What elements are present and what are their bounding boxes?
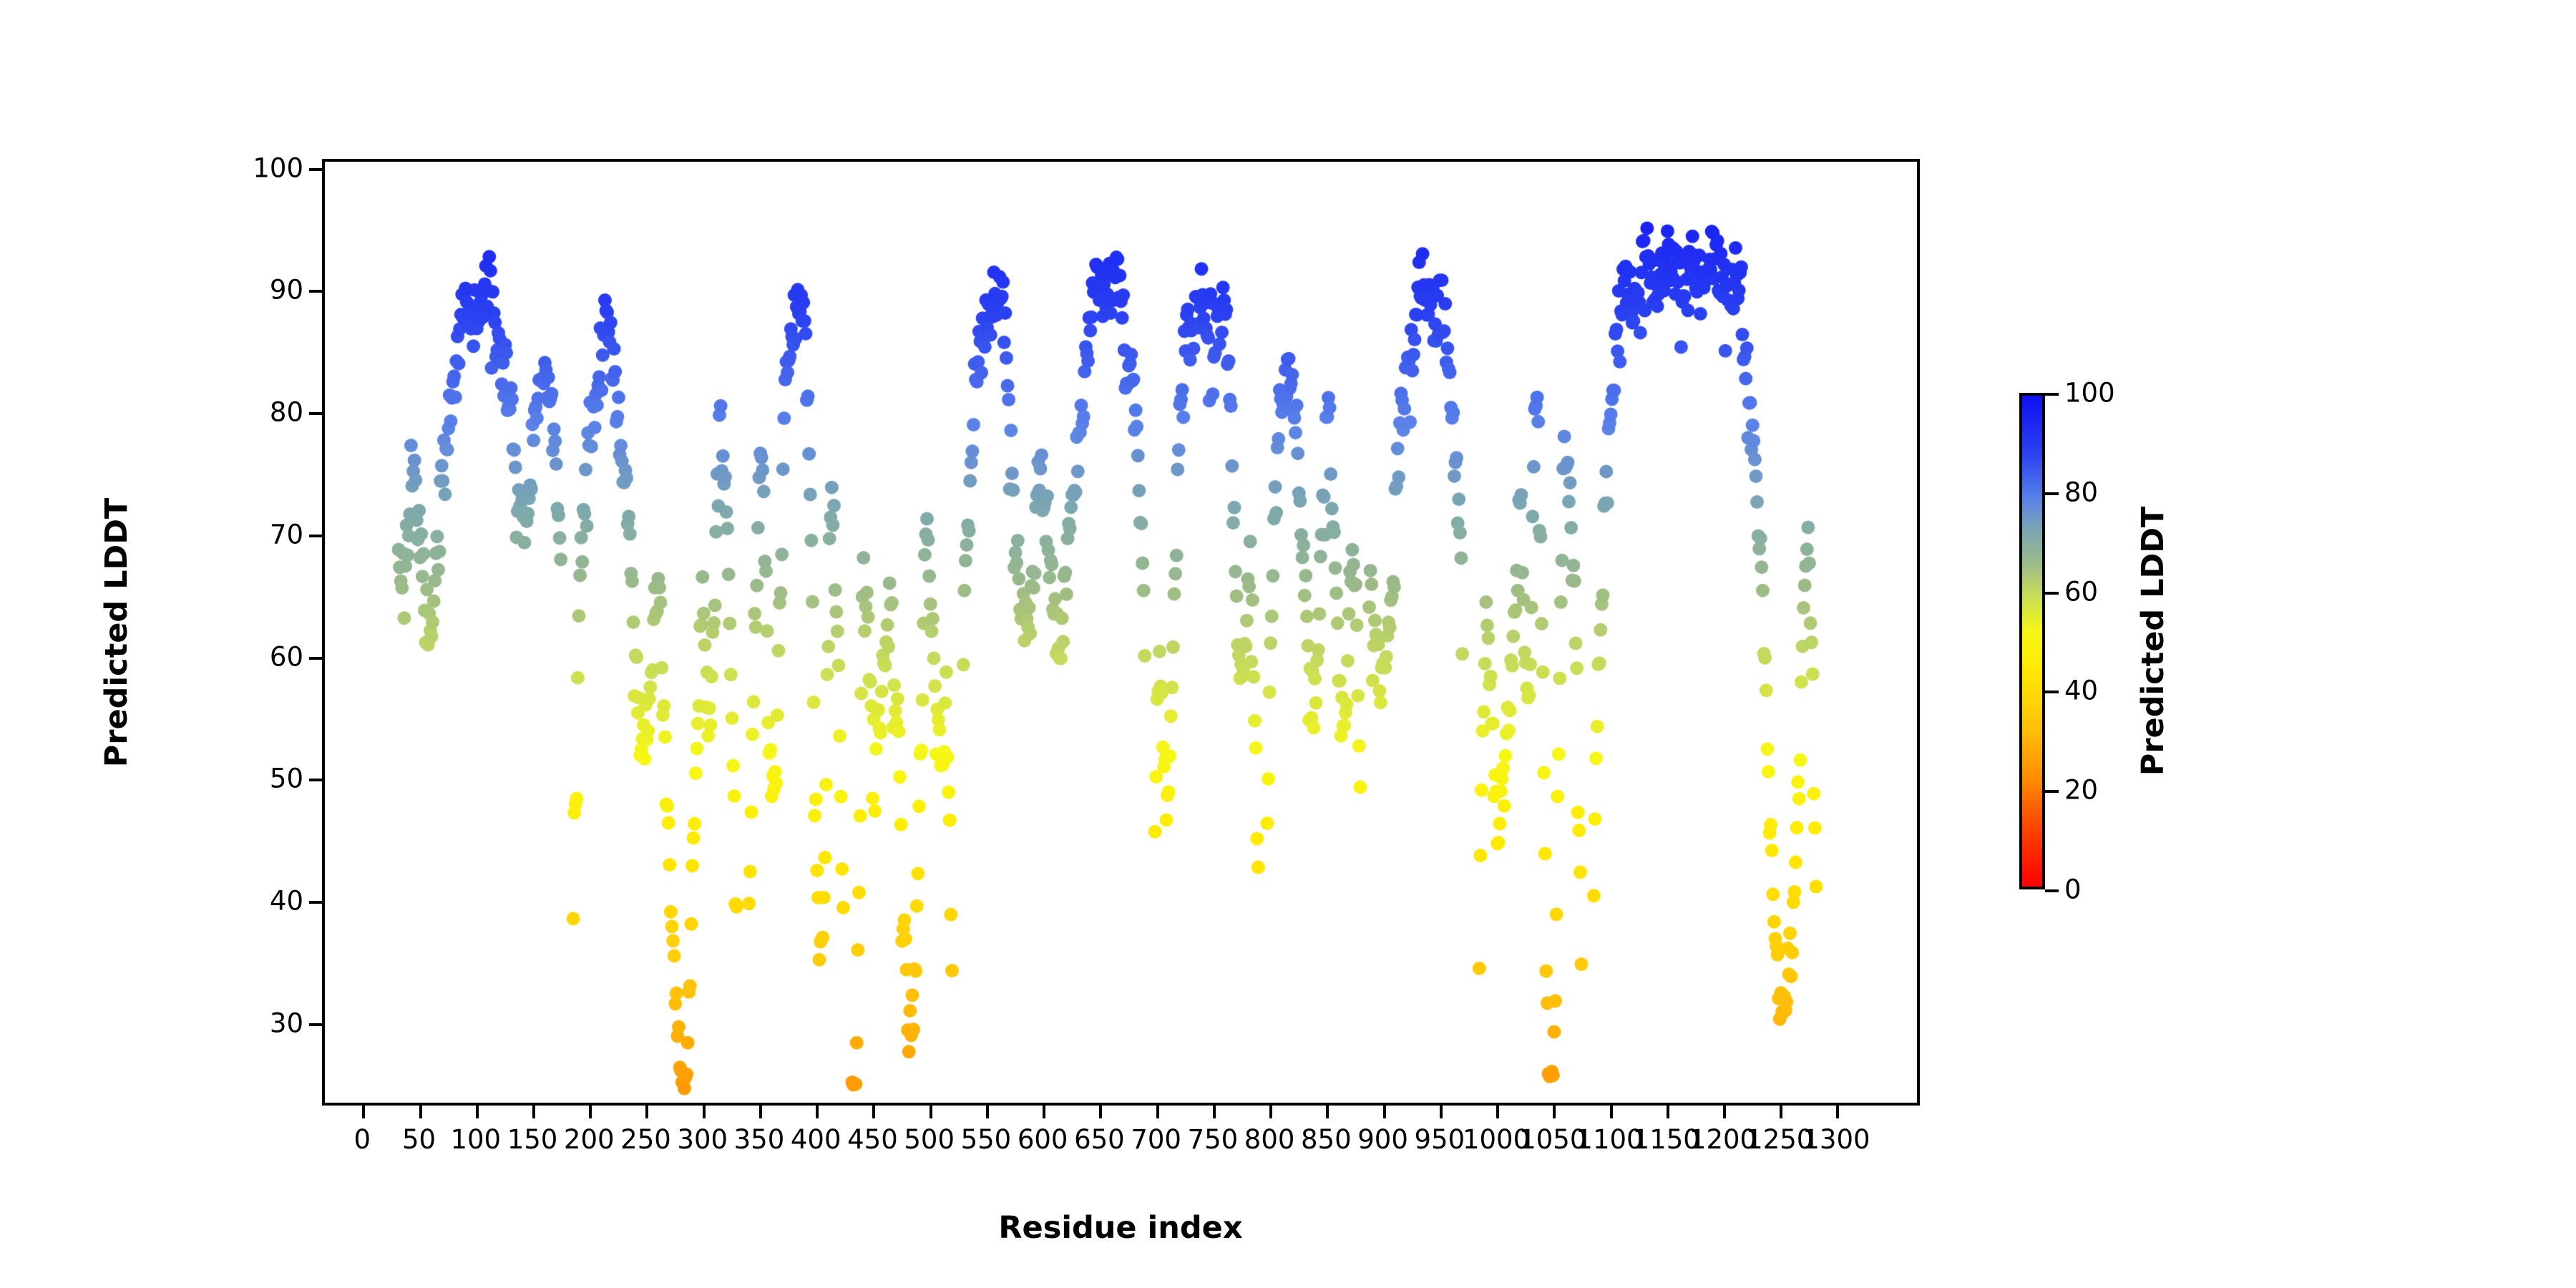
colorbar-tick [2045, 790, 2059, 793]
y-axis-title: Predicted LDDT [99, 498, 135, 767]
x-tick-label: 650 [1074, 1124, 1125, 1155]
colorbar-tick [2045, 691, 2059, 693]
x-tick-label: 550 [961, 1124, 1012, 1155]
x-tick-label: 1300 [1802, 1124, 1870, 1155]
y-tick-label: 90 [270, 275, 303, 306]
colorbar-tick-label: 0 [2064, 874, 2082, 905]
x-tick [1383, 1103, 1386, 1118]
x-tick [1269, 1103, 1272, 1118]
x-tick [589, 1103, 592, 1118]
y-tick-label: 70 [270, 519, 303, 550]
x-tick-label: 50 [402, 1124, 436, 1155]
x-tick-label: 500 [904, 1124, 955, 1155]
x-tick [532, 1103, 535, 1118]
scatter-plot-axes: 30405060708090100 0501001502002503003504… [322, 159, 1920, 1106]
colorbar-tick [2045, 592, 2059, 595]
y-tick [309, 290, 325, 293]
x-tick-label: 850 [1301, 1124, 1352, 1155]
x-tick-label: 400 [791, 1124, 841, 1155]
y-tick [309, 779, 325, 781]
colorbar-tick [2045, 889, 2059, 892]
x-tick-label: 750 [1188, 1124, 1239, 1155]
x-tick-label: 900 [1357, 1124, 1408, 1155]
colorbar-tick-label: 20 [2064, 775, 2098, 806]
x-tick [1610, 1103, 1613, 1118]
y-tick-label: 60 [270, 641, 303, 672]
x-tick [1667, 1103, 1669, 1118]
y-tick-label: 80 [270, 397, 303, 428]
x-tick [930, 1103, 932, 1118]
x-tick-label: 600 [1018, 1124, 1068, 1155]
x-tick-label: 200 [564, 1124, 615, 1155]
x-tick [476, 1103, 479, 1118]
y-tick [309, 657, 325, 660]
x-tick-label: 450 [847, 1124, 898, 1155]
x-tick [1213, 1103, 1216, 1118]
x-tick [986, 1103, 989, 1118]
x-axis-title: Residue index [998, 1210, 1242, 1246]
y-tick [309, 412, 325, 415]
x-tick [759, 1103, 762, 1118]
x-tick-label: 350 [734, 1124, 785, 1155]
x-tick [1780, 1103, 1782, 1118]
x-tick-label: 150 [507, 1124, 558, 1155]
x-tick [1496, 1103, 1499, 1118]
x-tick [1836, 1103, 1839, 1118]
y-tick [309, 1023, 325, 1026]
colorbar: 020406080100 [2019, 393, 2045, 889]
y-tick-label: 40 [270, 886, 303, 917]
x-tick [872, 1103, 875, 1118]
x-tick [1043, 1103, 1045, 1118]
colorbar-title: Predicted LDDT [2135, 507, 2171, 776]
x-tick-label: 700 [1131, 1124, 1181, 1155]
x-tick [816, 1103, 819, 1118]
y-tick-label: 100 [253, 152, 303, 183]
x-tick [703, 1103, 706, 1118]
colorbar-tick-label: 40 [2064, 675, 2098, 706]
colorbar-tick [2045, 492, 2059, 495]
colorbar-tick-label: 100 [2064, 378, 2115, 409]
figure-canvas: 30405060708090100 0501001502002503003504… [0, 0, 2576, 1288]
x-tick [1326, 1103, 1329, 1118]
x-tick-label: 0 [354, 1124, 371, 1155]
x-tick [1099, 1103, 1102, 1118]
y-tick [309, 168, 325, 171]
x-tick [362, 1103, 365, 1118]
x-tick [1156, 1103, 1159, 1118]
y-tick-label: 30 [270, 1008, 303, 1038]
colorbar-gradient-bar [2019, 393, 2045, 889]
x-tick [1440, 1103, 1443, 1118]
x-tick [645, 1103, 648, 1118]
x-tick-label: 300 [677, 1124, 728, 1155]
y-tick [309, 901, 325, 904]
y-tick [309, 535, 325, 537]
y-tick-label: 50 [270, 763, 303, 794]
x-tick [1723, 1103, 1726, 1118]
colorbar-tick-label: 60 [2064, 576, 2098, 607]
x-tick-label: 250 [620, 1124, 671, 1155]
colorbar-tick [2045, 393, 2059, 396]
colorbar-tick-label: 80 [2064, 477, 2098, 507]
x-tick-label: 800 [1244, 1124, 1295, 1155]
x-tick-label: 950 [1415, 1124, 1465, 1155]
x-tick [1553, 1103, 1556, 1118]
x-tick-label: 100 [450, 1124, 501, 1155]
scatter-points-layer [325, 162, 1917, 1103]
x-tick [419, 1103, 422, 1118]
